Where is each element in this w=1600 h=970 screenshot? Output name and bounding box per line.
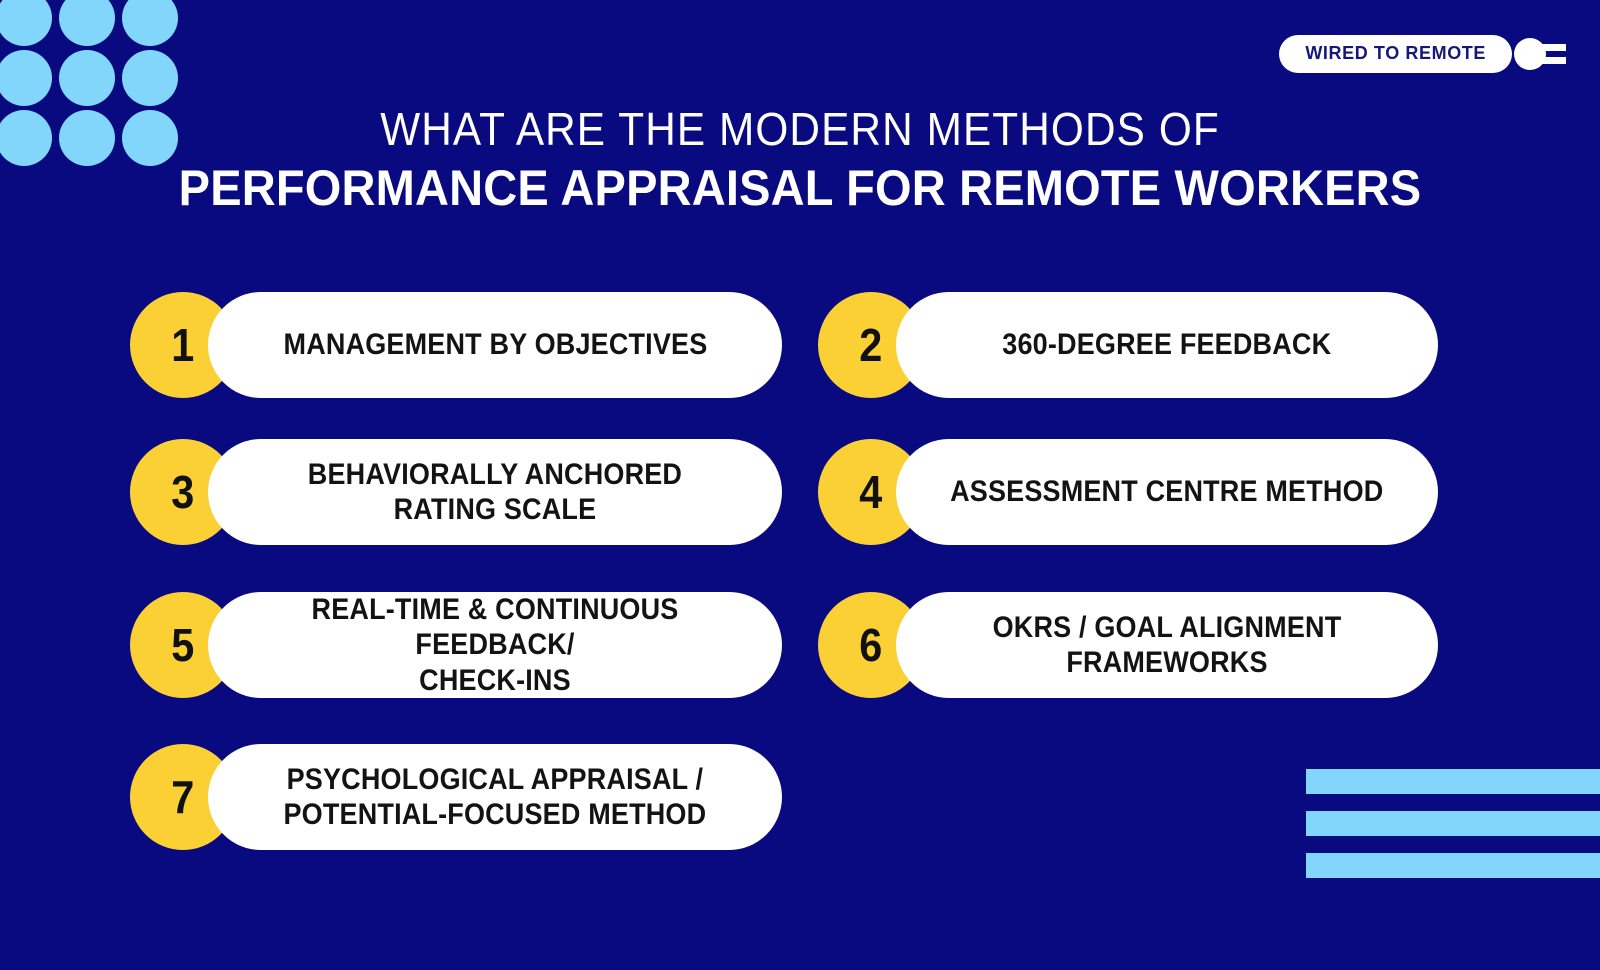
plug-body bbox=[1514, 38, 1546, 70]
item-label: 360-DEGREE FEEDBACK bbox=[1002, 327, 1331, 362]
plug-prong-top bbox=[1540, 44, 1566, 51]
item-label: MANAGEMENT BY OBJECTIVES bbox=[283, 327, 707, 362]
dot-decoration bbox=[59, 50, 115, 106]
item-number: 6 bbox=[859, 622, 882, 668]
logo-pill: WIRED TO REMOTE bbox=[1279, 35, 1512, 73]
page-title: WHAT ARE THE MODERN METHODS OF PERFORMAN… bbox=[0, 104, 1600, 217]
item-number: 2 bbox=[859, 322, 882, 368]
dot-decoration bbox=[59, 0, 115, 46]
plug-icon bbox=[1508, 34, 1566, 74]
logo-text: WIRED TO REMOTE bbox=[1305, 43, 1486, 64]
dot-decoration bbox=[0, 0, 52, 46]
item-label: ASSESSMENT CENTRE METHOD bbox=[950, 474, 1383, 509]
title-line-2: PERFORMANCE APPRAISAL FOR REMOTE WORKERS bbox=[48, 160, 1552, 218]
methods-list: 1 MANAGEMENT BY OBJECTIVES 2 360-DEGREE … bbox=[0, 292, 1600, 892]
item-pill[interactable]: ASSESSMENT CENTRE METHOD bbox=[896, 439, 1438, 545]
item-number: 7 bbox=[171, 774, 194, 820]
item-pill[interactable]: 360-DEGREE FEEDBACK bbox=[896, 292, 1438, 398]
item-number: 4 bbox=[859, 469, 882, 515]
item-label: OKRS / GOAL ALIGNMENT FRAMEWORKS bbox=[947, 610, 1388, 680]
item-pill[interactable]: BEHAVIORALLY ANCHORED RATING SCALE bbox=[208, 439, 782, 545]
item-label: PSYCHOLOGICAL APPRAISAL / POTENTIAL-FOCU… bbox=[284, 762, 707, 832]
plug-prong-bottom bbox=[1540, 57, 1566, 64]
dot-decoration bbox=[122, 0, 178, 46]
item-label: BEHAVIORALLY ANCHORED RATING SCALE bbox=[308, 457, 682, 527]
brand-logo: WIRED TO REMOTE bbox=[1279, 34, 1566, 74]
item-number: 1 bbox=[171, 322, 194, 368]
dot-decoration bbox=[0, 50, 52, 106]
item-label: REAL-TIME & CONTINUOUS FEEDBACK/ CHECK-I… bbox=[260, 592, 730, 697]
title-line-1: WHAT ARE THE MODERN METHODS OF bbox=[64, 104, 1536, 156]
item-number: 3 bbox=[171, 469, 194, 515]
item-pill[interactable]: PSYCHOLOGICAL APPRAISAL / POTENTIAL-FOCU… bbox=[208, 744, 782, 850]
item-pill[interactable]: OKRS / GOAL ALIGNMENT FRAMEWORKS bbox=[896, 592, 1438, 698]
item-number: 5 bbox=[171, 622, 194, 668]
item-pill[interactable]: MANAGEMENT BY OBJECTIVES bbox=[208, 292, 782, 398]
item-pill[interactable]: REAL-TIME & CONTINUOUS FEEDBACK/ CHECK-I… bbox=[208, 592, 782, 698]
dot-decoration bbox=[122, 50, 178, 106]
